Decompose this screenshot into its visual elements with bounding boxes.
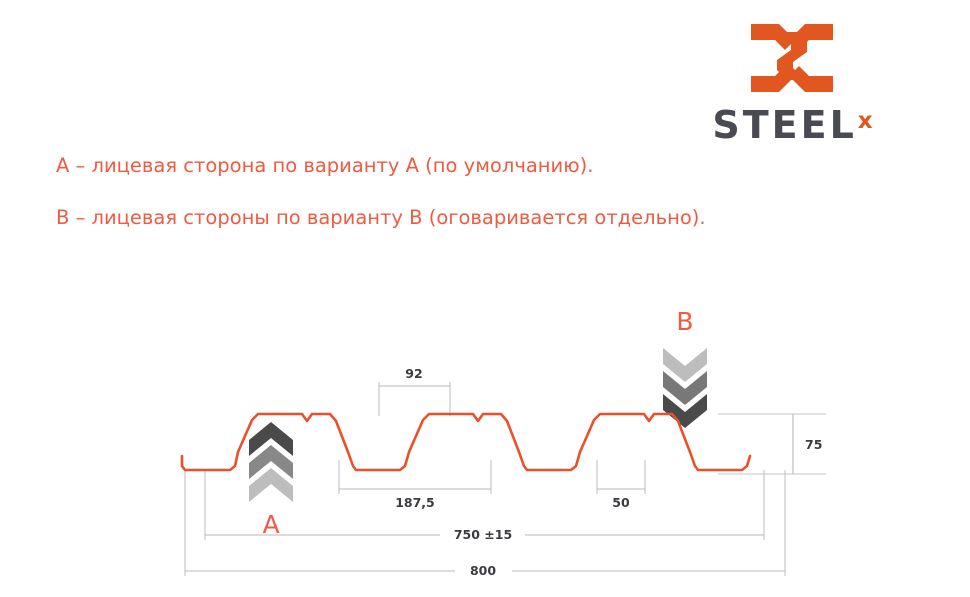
legend-line-b: B – лицевая стороны по варианту B (огова…: [56, 208, 756, 228]
profile-technical-drawing: B A 92 187,5 50 75 750 ±15: [0, 290, 970, 597]
legend-block: A – лицевая сторона по варианту A (по ум…: [56, 156, 756, 259]
dimension-crest-92: 92: [379, 366, 450, 416]
svg-text:75: 75: [805, 437, 822, 452]
logo-word-steel: STEEL: [712, 106, 856, 144]
dimension-height-75: 75: [718, 414, 826, 474]
steelx-x-mark-icon: [749, 18, 835, 98]
logo-word-superscript-x: x: [858, 110, 873, 133]
svg-text:92: 92: [405, 366, 422, 381]
logo-wordmark: STEEL x: [686, 102, 898, 144]
marker-a-chevrons: [249, 422, 293, 502]
marker-b-chevrons: [663, 348, 707, 428]
dimension-pitch-187-5: 187,5: [339, 460, 491, 510]
svg-text:800: 800: [470, 563, 496, 578]
svg-text:750 ±15: 750 ±15: [454, 527, 512, 542]
svg-text:187,5: 187,5: [395, 495, 435, 510]
dimension-trough-50: 50: [597, 460, 645, 510]
brand-logo: STEEL x: [686, 18, 898, 144]
svg-text:50: 50: [612, 495, 630, 510]
marker-b-label: B: [676, 307, 693, 336]
dimension-useful-width-750: 750 ±15: [205, 470, 764, 542]
legend-line-a: A – лицевая сторона по варианту A (по ум…: [56, 156, 756, 176]
